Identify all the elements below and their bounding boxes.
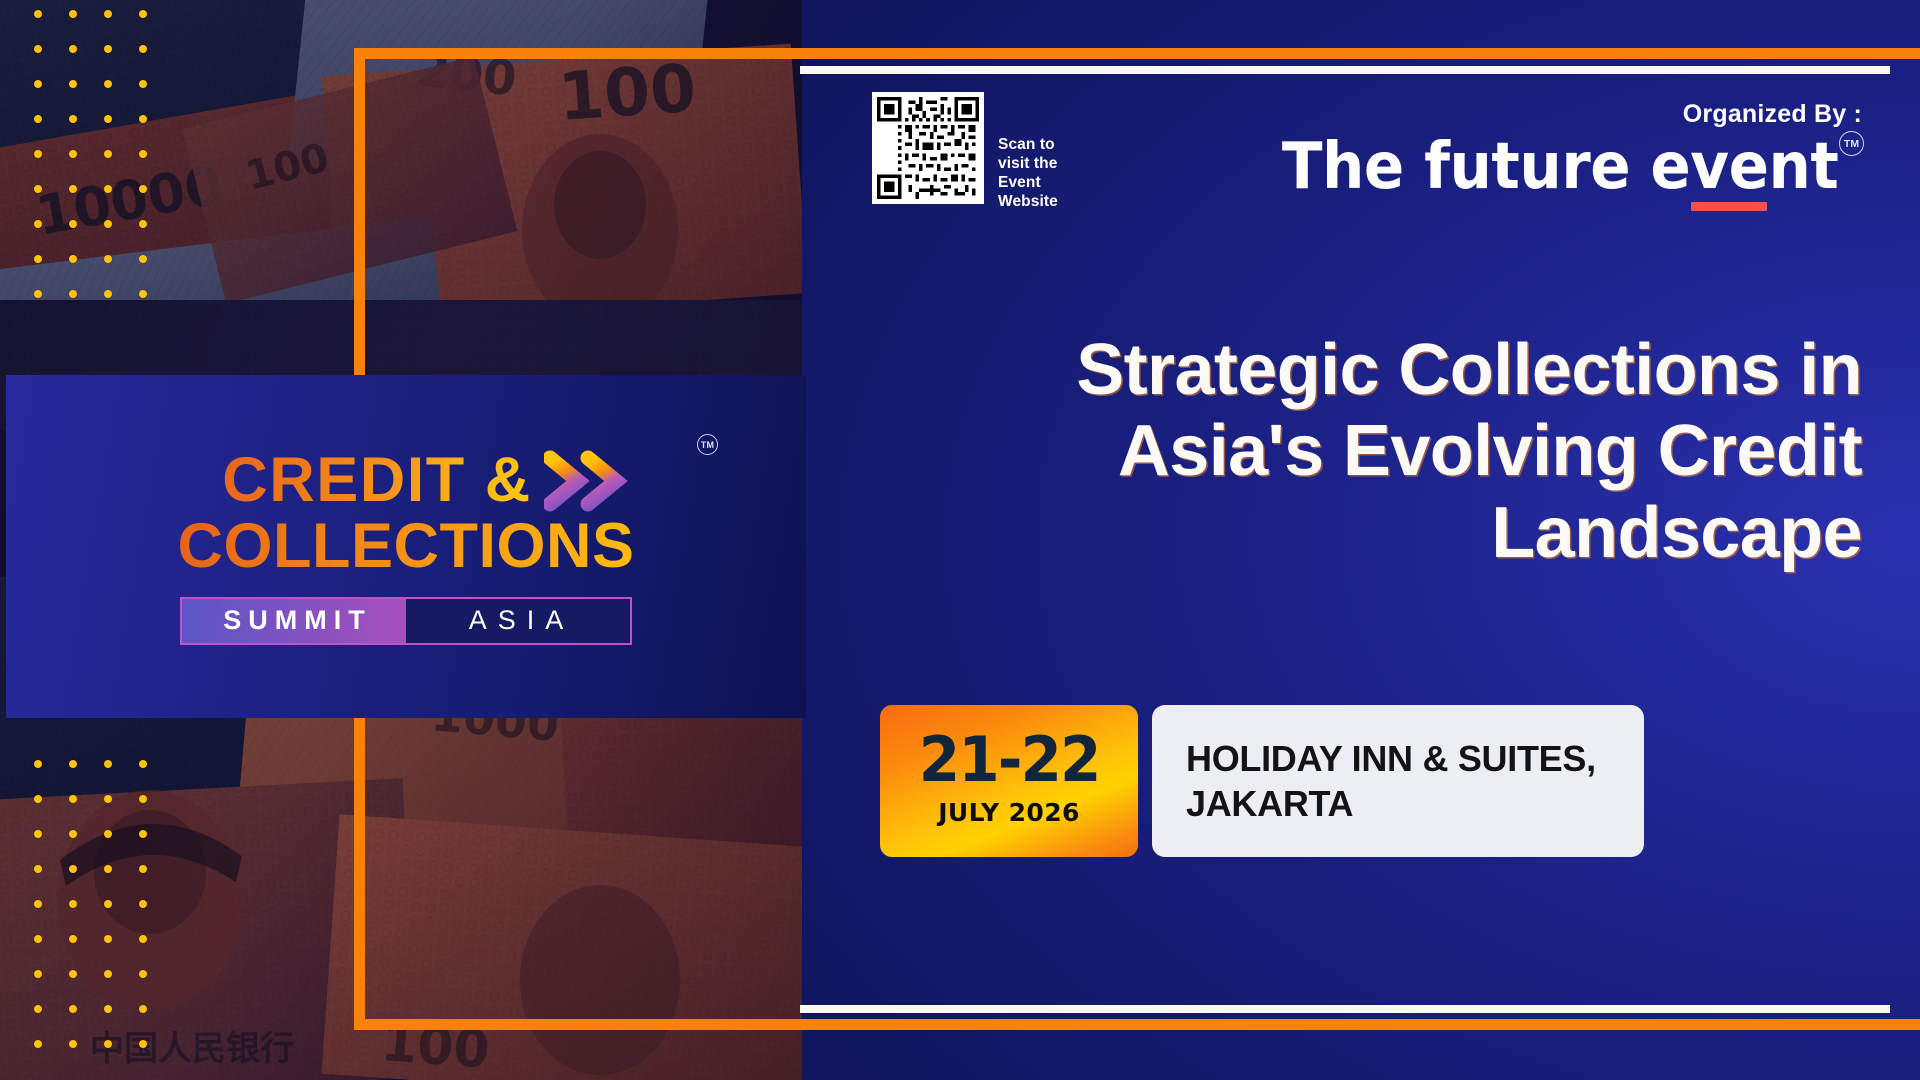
grid-dot: [139, 760, 147, 768]
qr-caption-line-2: visit the: [998, 155, 1058, 174]
logo-line-1: CREDIT &: [166, 448, 686, 512]
qr-caption: Scan to visit the Event Website: [998, 136, 1058, 212]
grid-dot: [34, 255, 42, 263]
organizer-logo: The future event TM: [1240, 135, 1862, 199]
qr-caption-line-3: Event: [998, 174, 1058, 193]
title-line-2: Asia's Evolving Credit: [882, 411, 1862, 492]
grid-dot: [104, 290, 112, 298]
grid-dot: [139, 80, 147, 88]
grid-dot: [69, 935, 77, 943]
grid-dot: [139, 970, 147, 978]
grid-dot: [69, 865, 77, 873]
grid-dot: [104, 220, 112, 228]
venue-name: HOLIDAY INN & SUITES, JAKARTA: [1186, 736, 1596, 827]
dot-grid-pattern-bottom-left: [34, 760, 184, 1060]
grid-dot: [139, 255, 147, 263]
double-chevron-right-icon: [544, 450, 630, 512]
grid-dot: [139, 1040, 147, 1048]
organized-by-label: Organized By :: [1240, 100, 1862, 129]
grid-dot: [104, 10, 112, 18]
grid-dot: [69, 760, 77, 768]
grid-dot: [34, 45, 42, 53]
event-banner: 100 200 10000 100 1000: [0, 0, 1920, 1080]
grid-dot: [69, 795, 77, 803]
grid-dot: [34, 150, 42, 158]
summit-label: SUMMIT: [216, 605, 371, 636]
grid-dot: [139, 185, 147, 193]
grid-dot: [104, 795, 112, 803]
grid-dot: [104, 45, 112, 53]
grid-dot: [69, 255, 77, 263]
grid-dot: [34, 290, 42, 298]
grid-dot: [104, 80, 112, 88]
grid-dot: [69, 220, 77, 228]
grid-dot: [69, 290, 77, 298]
summit-asia-bar: SUMMIT ASIA: [180, 597, 632, 645]
organizer-name: The future event: [1281, 135, 1838, 199]
qr-caption-line-1: Scan to: [998, 136, 1058, 155]
grid-dot: [34, 830, 42, 838]
grid-dot: [139, 290, 147, 298]
venue-line-2: JAKARTA: [1186, 781, 1596, 826]
grid-dot: [104, 255, 112, 263]
grid-dot: [139, 1005, 147, 1013]
grid-dot: [139, 865, 147, 873]
qr-block[interactable]: Scan to visit the Event Website: [872, 92, 1058, 212]
grid-dot: [34, 10, 42, 18]
grid-dot: [34, 80, 42, 88]
content-pane: Scan to visit the Event Website Organize…: [802, 0, 1920, 1080]
grid-dot: [69, 115, 77, 123]
organizer-block: Organized By : The future event TM: [1240, 100, 1862, 199]
grid-dot: [34, 1005, 42, 1013]
grid-dot: [139, 150, 147, 158]
grid-dot: [139, 830, 147, 838]
date-badge: 21-22 JULY 2026: [880, 705, 1138, 857]
grid-dot: [69, 970, 77, 978]
logo-collections-text: COLLECTIONS: [126, 514, 686, 578]
grid-dot: [34, 935, 42, 943]
organizer-underline-accent: [1691, 202, 1767, 211]
grid-dot: [104, 150, 112, 158]
grid-dot: [69, 10, 77, 18]
logo-credit-text: CREDIT &: [222, 449, 532, 512]
date-month-year: JULY 2026: [938, 798, 1080, 827]
logo-trademark-icon: TM: [697, 434, 718, 455]
grid-dot: [34, 185, 42, 193]
grid-dot: [34, 900, 42, 908]
asia-label: ASIA: [462, 605, 575, 636]
grid-dot: [69, 1005, 77, 1013]
grid-dot: [34, 970, 42, 978]
grid-dot: [34, 220, 42, 228]
venue-line-1: HOLIDAY INN & SUITES,: [1186, 736, 1596, 781]
asia-segment: ASIA: [406, 599, 630, 643]
grid-dot: [34, 115, 42, 123]
grid-dot: [139, 220, 147, 228]
qr-code-icon[interactable]: [872, 92, 984, 204]
grid-dot: [69, 80, 77, 88]
grid-dot: [139, 115, 147, 123]
grid-dot: [69, 150, 77, 158]
event-details-row: 21-22 JULY 2026 HOLIDAY INN & SUITES, JA…: [880, 705, 1644, 857]
qr-caption-line-4: Website: [998, 193, 1058, 212]
grid-dot: [34, 760, 42, 768]
grid-dot: [104, 115, 112, 123]
grid-dot: [34, 865, 42, 873]
grid-dot: [69, 900, 77, 908]
grid-dot: [69, 45, 77, 53]
page-title: Strategic Collections in Asia's Evolving…: [882, 330, 1862, 574]
grid-dot: [104, 970, 112, 978]
grid-dot: [139, 45, 147, 53]
title-line-3: Landscape: [882, 493, 1862, 574]
grid-dot: [69, 185, 77, 193]
grid-dot: [139, 10, 147, 18]
organizer-trademark-icon: TM: [1839, 131, 1864, 156]
grid-dot: [104, 1040, 112, 1048]
grid-dot: [104, 900, 112, 908]
venue-card: HOLIDAY INN & SUITES, JAKARTA: [1152, 705, 1644, 857]
grid-dot: [34, 795, 42, 803]
grid-dot: [104, 185, 112, 193]
grid-dot: [139, 935, 147, 943]
grid-dot: [104, 1005, 112, 1013]
grid-dot: [104, 935, 112, 943]
grid-dot: [34, 1040, 42, 1048]
grid-dot: [139, 795, 147, 803]
title-line-1: Strategic Collections in: [882, 330, 1862, 411]
grid-dot: [69, 1040, 77, 1048]
grid-dot: [139, 900, 147, 908]
grid-dot: [104, 760, 112, 768]
dot-grid-pattern-top-left: [34, 10, 184, 310]
grid-dot: [104, 830, 112, 838]
credit-collections-summit-logo: CREDIT &: [6, 375, 806, 718]
grid-dot: [104, 865, 112, 873]
date-days: 21-22: [919, 731, 1100, 790]
summit-segment: SUMMIT: [182, 599, 406, 643]
grid-dot: [69, 830, 77, 838]
